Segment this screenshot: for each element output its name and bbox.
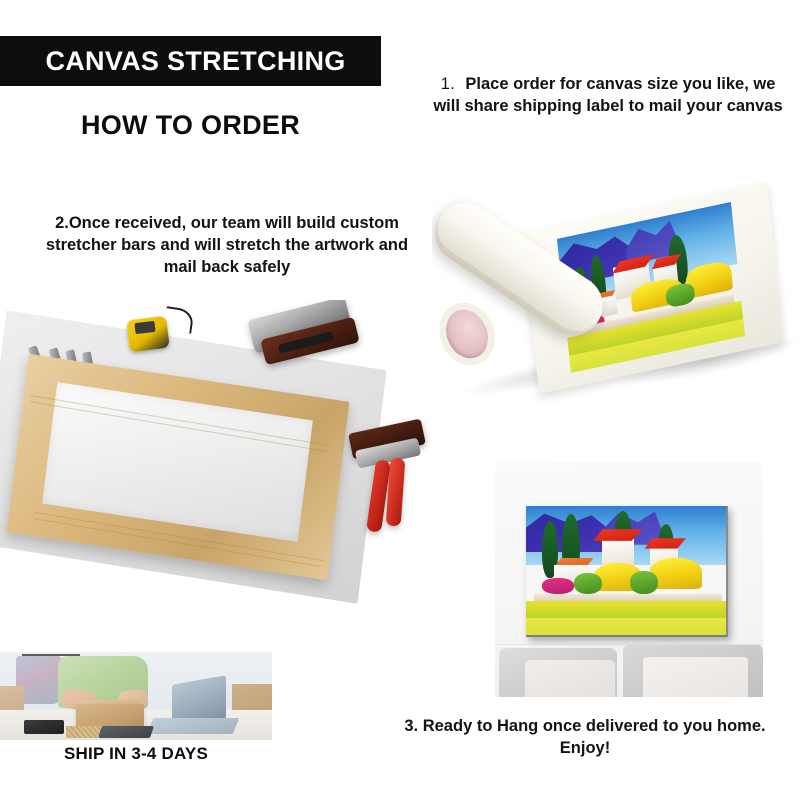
framed-canvas-on-wall-photo [495, 462, 763, 697]
header: CANVAS STRETCHING HOW TO ORDER [0, 24, 420, 134]
canvas-roll-edge [432, 294, 505, 374]
laptop-keyboard [147, 718, 239, 734]
sofa-right-cushion [643, 657, 748, 697]
rolled-canvas-print-photo [432, 180, 800, 430]
step-1-body: Place order for canvas size you like, we… [433, 75, 782, 115]
step-1-number: 1. [441, 75, 456, 93]
step-2-text: 2.Once received, our team will build cus… [32, 213, 422, 278]
step-3-text: 3. Ready to Hang once delivered to you h… [380, 716, 790, 760]
hanging-canvas-artwork [526, 506, 728, 637]
sofa-left-cushion [525, 660, 615, 697]
ship-days-caption: SHIP IN 3-4 DAYS [0, 744, 272, 764]
page-subtitle: HOW TO ORDER [0, 112, 381, 139]
packing-desk-photo [0, 652, 272, 740]
title-bar: CANVAS STRETCHING [0, 36, 381, 86]
tape-measure-blade [163, 306, 194, 334]
page-title: CANVAS STRETCHING [35, 48, 345, 75]
tablet-device [98, 726, 154, 738]
calculator [24, 720, 64, 734]
step-1-text: 1.Place order for canvas size you like, … [432, 74, 784, 118]
stretcher-frame-tools-photo [0, 300, 440, 620]
